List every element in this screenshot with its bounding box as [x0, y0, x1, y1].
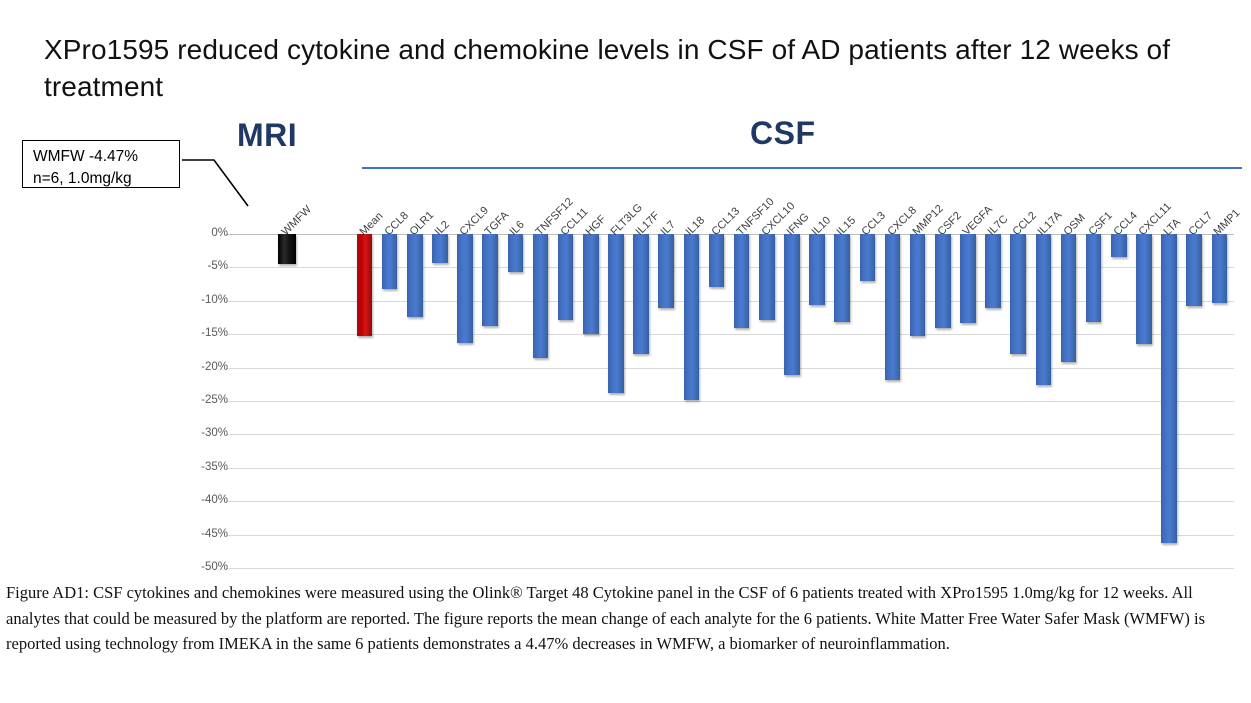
bar-tnfsf10 — [734, 234, 750, 328]
y-axis-tick-label: -45% — [168, 528, 228, 540]
bar-il10 — [809, 234, 825, 305]
bar-ccl8 — [382, 234, 398, 289]
figure-caption-text: Figure AD1: CSF cytokines and chemokines… — [6, 580, 1206, 657]
bar-mean — [357, 234, 373, 336]
bar-cxcl10 — [759, 234, 775, 320]
y-axis-tick-label: -35% — [168, 461, 228, 473]
callout-line-1: WMFW -4.47% — [33, 146, 171, 168]
bar-cxcl8 — [885, 234, 901, 380]
bar-il17a — [1036, 234, 1052, 385]
y-axis-tick-label: -20% — [168, 361, 228, 373]
bar-tnfsf12 — [533, 234, 549, 358]
y-axis-tick-label: -25% — [168, 394, 228, 406]
bar-ccl3 — [860, 234, 876, 281]
bar-olr1 — [407, 234, 423, 317]
y-axis-tick-label: -15% — [168, 327, 228, 339]
bar-ccl13 — [709, 234, 725, 287]
bar-tgfa — [482, 234, 498, 326]
bar-csf2 — [935, 234, 951, 328]
bar-mmp12 — [910, 234, 926, 336]
csf-underline-rule — [362, 167, 1242, 169]
bar-cxcl11 — [1136, 234, 1152, 344]
bar-csf1 — [1086, 234, 1102, 322]
bar-flt3lg — [608, 234, 624, 393]
bar-ifng — [784, 234, 800, 375]
bar-ccl11 — [558, 234, 574, 320]
gridline — [226, 568, 1234, 569]
bar-cxcl9 — [457, 234, 473, 343]
bar-il7c — [985, 234, 1001, 308]
bar-hgf — [583, 234, 599, 334]
wmfw-callout-box: WMFW -4.47% n=6, 1.0mg/kg — [22, 140, 180, 188]
bar-ccl7 — [1186, 234, 1202, 306]
bar-osm — [1061, 234, 1077, 362]
bar-wmfw — [278, 234, 296, 264]
y-axis-tick-label: -10% — [168, 294, 228, 306]
y-axis-tick-label: -40% — [168, 494, 228, 506]
section-header-mri: MRI — [237, 117, 297, 154]
bar-il17f — [633, 234, 649, 354]
callout-line-2: n=6, 1.0mg/kg — [33, 168, 171, 190]
x-axis-tick-label: WMFW — [280, 204, 314, 238]
page-title: XPro1595 reduced cytokine and chemokine … — [44, 32, 1234, 106]
y-axis-tick-label: 0% — [168, 227, 228, 239]
bar-vegfa — [960, 234, 976, 323]
bar-il18 — [684, 234, 700, 400]
section-header-csf: CSF — [750, 115, 816, 152]
chart-bars — [226, 234, 1234, 568]
chart-plot-area: 0%-5%-10%-15%-20%-25%-30%-35%-40%-45%-50… — [226, 234, 1234, 568]
bar-lta — [1161, 234, 1177, 543]
bar-il2 — [432, 234, 448, 263]
y-axis-tick-label: -5% — [168, 260, 228, 272]
y-axis-tick-label: -50% — [168, 561, 228, 573]
bar-il7 — [658, 234, 674, 308]
y-axis-tick-label: -30% — [168, 427, 228, 439]
bar-il15 — [834, 234, 850, 322]
bar-ccl2 — [1010, 234, 1026, 354]
bar-il6 — [508, 234, 524, 272]
bar-mmp1 — [1212, 234, 1228, 303]
figure-caption: Figure AD1: CSF cytokines and chemokines… — [6, 580, 1206, 657]
